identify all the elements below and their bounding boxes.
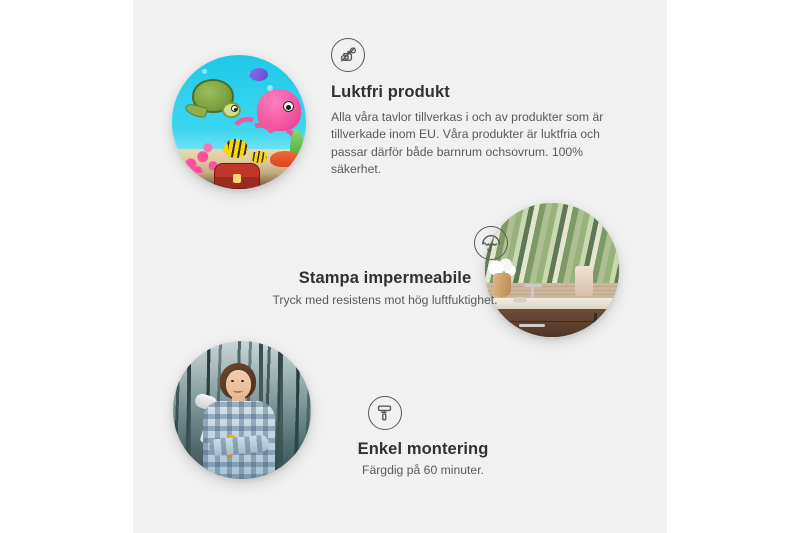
product-feature-infographic: Luktfri produkt Alla våra tavlor tillver… xyxy=(0,0,800,533)
feature-title: Enkel montering xyxy=(288,440,558,459)
drawer-handle-icon xyxy=(519,324,545,327)
cabinet-handle-icon xyxy=(594,313,597,332)
feature-description: Tryck med resistens mot hög luftfuktighe… xyxy=(205,292,565,309)
treasure-chest-icon xyxy=(214,163,260,189)
content-panel: Luktfri produkt Alla våra tavlor tillver… xyxy=(133,0,667,533)
yellow-fish-icon xyxy=(224,139,248,158)
towel-icon xyxy=(575,266,593,296)
paint-roller-icon xyxy=(368,396,402,430)
yellow-fish-icon xyxy=(251,151,267,163)
tree-trunk xyxy=(278,341,283,479)
octopus-eye-icon xyxy=(283,101,294,112)
crab-icon xyxy=(270,151,300,167)
feature-easy-install: Enkel montering Färgdig på 60 minuter. xyxy=(288,396,558,479)
feature-description: Färgdig på 60 minuter. xyxy=(288,462,558,479)
no-odor-perfume-bottle-icon xyxy=(331,38,365,72)
feature-waterproof: Stampa impermeabile Tryck med resistens … xyxy=(205,226,565,309)
face xyxy=(226,370,251,399)
purple-fish-icon xyxy=(250,68,268,81)
tree-trunk xyxy=(187,341,191,479)
product-photo-aquarium xyxy=(172,55,306,189)
icon-wrap xyxy=(205,226,565,260)
aquarium-scene xyxy=(172,55,306,189)
smile xyxy=(233,388,243,393)
feature-title: Luktfri produkt xyxy=(331,83,631,102)
bubble-icon xyxy=(202,69,207,74)
turtle-eye-icon xyxy=(231,105,238,112)
vanity-cabinet xyxy=(485,309,619,337)
feature-description: Alla våra tavlor tillverkas i och av pro… xyxy=(331,109,625,178)
cabinet-seam xyxy=(496,321,609,323)
icon-wrap xyxy=(288,396,558,430)
feature-odorless: Luktfri produkt Alla våra tavlor tillver… xyxy=(331,38,631,178)
umbrella-icon xyxy=(474,226,508,260)
feature-title: Stampa impermeabile xyxy=(205,269,565,288)
